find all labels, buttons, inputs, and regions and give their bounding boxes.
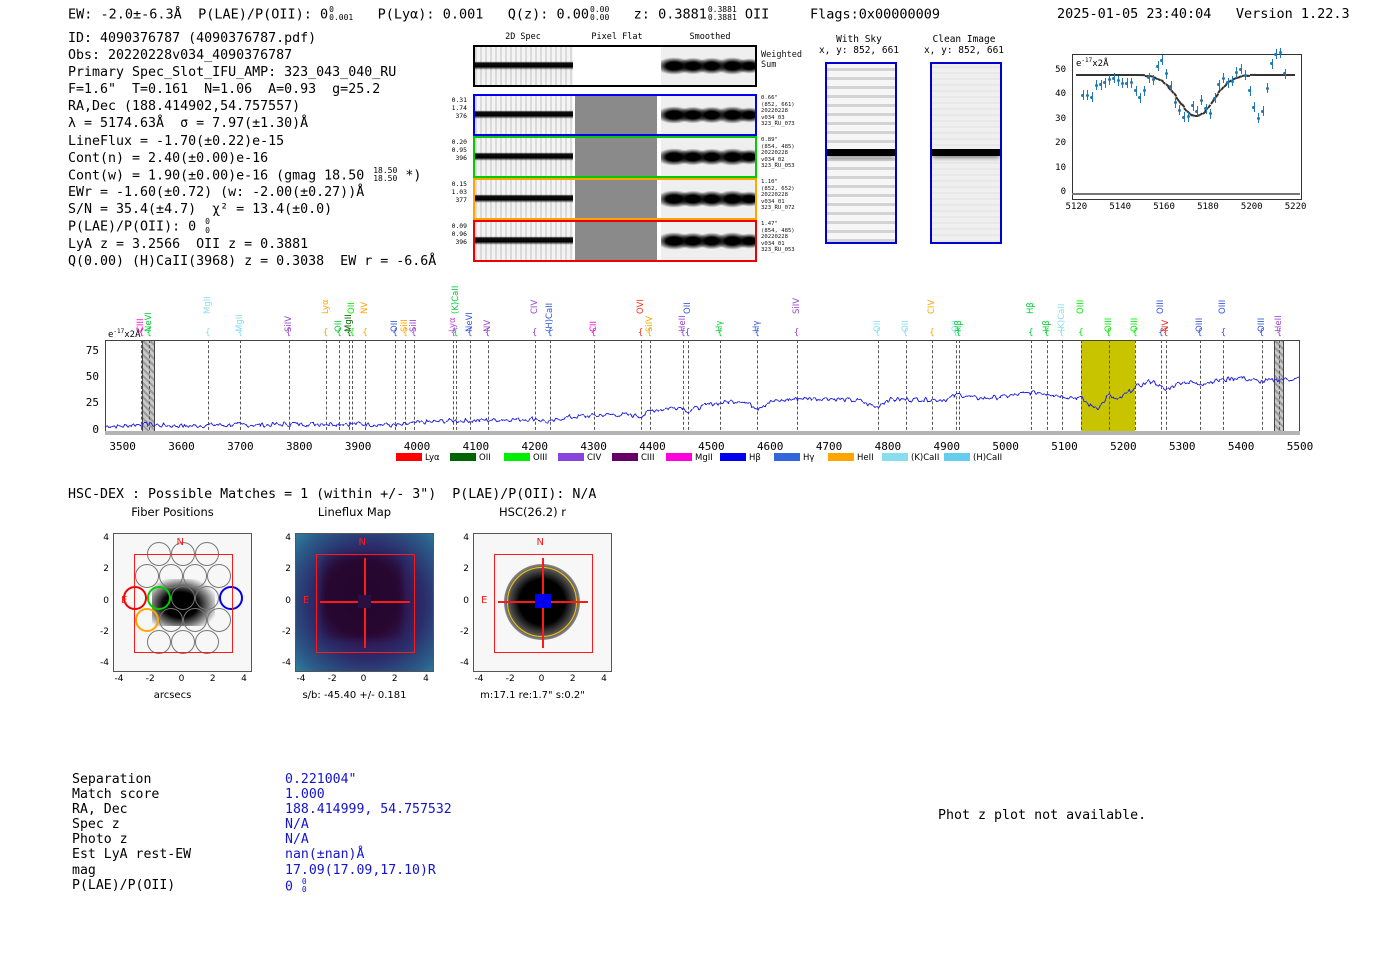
timestamp-version: 2025-01-05 23:40:04 Version 1.22.3 — [1057, 6, 1350, 22]
match-row-value: nan(±nan)Å — [285, 847, 364, 862]
fit-ytick: 50 — [1038, 65, 1066, 75]
spectrum-line-marker — [208, 340, 209, 435]
spectrum-line-marker — [720, 340, 721, 435]
spectrum-line-brace: { — [638, 328, 644, 338]
spec2d-row-left-meta: 0.09 0.96 396 — [437, 222, 467, 247]
spectrum-xtick: 5100 — [1039, 440, 1091, 453]
spec2d-weighted-sum-label: Weighted Sum — [761, 50, 802, 70]
info-line-8: Cont(w) = 1.90(±0.00)e-16 (gmag 18.50 18… — [68, 167, 436, 184]
spectrum-line-marker — [1279, 340, 1280, 435]
plae-sub: 0.001 — [329, 13, 353, 22]
spec2d-pixels — [661, 138, 755, 176]
fit-datapoint — [1178, 109, 1181, 112]
match-row-value: 0.221004" — [285, 772, 356, 787]
spec2d-pixels — [661, 180, 755, 218]
spectrum-line-label: CIV — [530, 262, 540, 314]
timestamp: 2025-01-05 23:40:04 — [1057, 6, 1211, 22]
spectrum-line-brace: { — [1220, 328, 1226, 338]
spectrum-line-label: Hβ — [1042, 280, 1052, 332]
legend-item-Hγ: Hγ — [774, 453, 814, 463]
image-panel-ytick: -2 — [87, 627, 109, 637]
spectrum-line-label: OII — [347, 262, 357, 314]
center-marker — [535, 594, 551, 608]
match-row-3: Spec zN/A — [72, 817, 191, 832]
spectrum-line-label: NeVI — [144, 280, 154, 332]
spectrum-ytick: 50 — [71, 370, 99, 383]
spectrum-line-label: (H)CaII — [545, 280, 555, 332]
fit-datapoint — [1200, 99, 1203, 102]
spec2d-pixels — [475, 138, 573, 176]
legend-label: Hβ — [749, 453, 761, 463]
image-panel-ytick: 0 — [269, 596, 291, 606]
fit-datapoint — [1090, 96, 1093, 99]
spectrum-line-label: OII — [683, 262, 693, 314]
image-panel-xtick: 2 — [201, 674, 225, 684]
photz-note: Phot z plot not available. — [938, 808, 1146, 823]
spectrum-xtick: 5200 — [1097, 440, 1149, 453]
spectrum-line-marker — [535, 340, 536, 435]
spectrum-xtick: 4400 — [626, 440, 678, 453]
spec2d-pixels — [661, 96, 755, 134]
fov-box — [134, 554, 233, 653]
spectrum-line-marker — [1031, 340, 1032, 435]
spectrum-line-label: NV — [483, 280, 493, 332]
legend-item-OIII: OIII — [504, 453, 547, 463]
legend-swatch — [774, 453, 800, 461]
legend-item-MgII: MgII — [666, 453, 713, 463]
plae-value: 0 — [320, 6, 328, 22]
spectrum-xtick: 3600 — [156, 440, 208, 453]
spec2d-fiber-row — [473, 220, 757, 262]
legend-swatch — [882, 453, 908, 461]
image-panel-ytick: 2 — [87, 564, 109, 574]
plya-value: 0.001 — [443, 6, 484, 22]
fit-datapoint — [1143, 89, 1146, 92]
spectrum-line-label: Hγ — [715, 280, 725, 332]
spectrum-line-label: (K)CaII — [451, 262, 461, 314]
fit-datapoint — [1156, 65, 1159, 68]
match-row-label: Spec z — [72, 817, 120, 832]
image-panel-xtick: 0 — [530, 674, 554, 684]
image-panel-title-1: Lineflux Map — [267, 505, 442, 519]
spec2d-pixels — [661, 47, 755, 85]
fit-xtick: 5220 — [1274, 202, 1318, 212]
fit-datapoint — [1222, 77, 1225, 80]
image-panel-xtick: -2 — [138, 674, 162, 684]
flags-text: Flags:0x00000009 — [810, 6, 940, 22]
spectrum-line-brace: { — [362, 328, 368, 338]
image-panel-xtick: 2 — [561, 674, 585, 684]
spectrum-baseline-band — [105, 431, 1300, 435]
image-panel-xtick: 4 — [592, 674, 616, 684]
spectrum-line-marker — [757, 340, 758, 435]
image-panel-xtick: 4 — [232, 674, 256, 684]
info-line-4: RA,Dec (188.414902,54.757557) — [68, 98, 436, 115]
image-panel-xtick: 4 — [414, 674, 438, 684]
fit-datapoint — [1213, 97, 1216, 100]
spectrum-line-label: OIII — [1076, 262, 1086, 314]
spectrum-line-marker — [878, 340, 879, 435]
legend-item-Hβ: Hβ — [720, 453, 761, 463]
spec2d-col-title-2: Smoothed — [650, 32, 770, 42]
fit-curve-seg — [1292, 74, 1295, 76]
match-row-label: Separation — [72, 772, 151, 787]
legend-item-(K)CaII: (K)CaII — [882, 453, 939, 463]
spectrum-line-label: OII — [901, 280, 911, 332]
spectrum-xtick: 4700 — [803, 440, 855, 453]
spectrum-line-brace: { — [453, 328, 459, 338]
spectrum-xtick: 4000 — [391, 440, 443, 453]
spectrum-line-brace: { — [323, 328, 329, 338]
fit-datapoint — [1121, 82, 1124, 85]
match-row-label: mag — [72, 863, 96, 878]
compass-north-1: N — [359, 537, 366, 548]
fit-datapoint — [1235, 71, 1238, 74]
spectrum-xtick: 5300 — [1156, 440, 1208, 453]
compass-east-2: E — [481, 595, 487, 606]
cutout-pixels — [932, 64, 1000, 242]
plya-label: P(Lyα): — [378, 6, 435, 22]
summary-header-line: EW: -2.0±-6.3Å P(LAE)/P(OII): 000.001 P(… — [68, 6, 940, 23]
spec2d-pixels — [475, 222, 573, 260]
spectrum-line-marker — [1062, 340, 1063, 435]
legend-label: OIII — [533, 453, 547, 463]
legend-swatch — [828, 453, 854, 461]
image-panel-ytick: 0 — [87, 596, 109, 606]
spectrum-line-marker — [1223, 340, 1224, 435]
spectrum-line-brace: { — [685, 328, 691, 338]
spectrum-line-label: OII — [334, 280, 344, 332]
ew-value: -2.0±-6.3Å — [101, 6, 182, 22]
match-detail-table: Separation0.221004"Match score1.000RA, D… — [72, 772, 191, 893]
info-line-0: ID: 4090376787 (4090376787.pdf) — [68, 30, 436, 47]
legend-swatch — [558, 453, 584, 461]
image-panel-caption-2: m:17.1 re:1.7" s:0.2" — [437, 690, 628, 701]
fit-xtick: 5200 — [1230, 202, 1274, 212]
spectrum-xtick: 4100 — [450, 440, 502, 453]
spectrum-line-label: NV — [1161, 280, 1171, 332]
image-panel-ytick: -4 — [269, 658, 291, 668]
spec2d-image-cell — [475, 180, 573, 218]
spectrum-line-label: OIII — [1104, 280, 1114, 332]
fit-datapoint — [1244, 74, 1247, 77]
spectrum-line-marker — [141, 340, 142, 435]
match-row-7: P(LAE)/P(OII)0 00 — [72, 878, 191, 893]
spec2d-image-cell — [661, 138, 755, 176]
spec2d-row-right-meta: 0.66" (852, 661) 20220228 v034_03 323_RU… — [761, 95, 795, 128]
spec2d-row-right-meta: 0.89" (854, 485) 20220228 v034_02 323_RU… — [761, 137, 795, 170]
spectrum-line-marker — [959, 340, 960, 435]
image-panel-title-0: Fiber Positions — [85, 505, 260, 519]
spectrum-ytick: 75 — [71, 344, 99, 357]
match-row-label: Est LyA rest-EW — [72, 847, 191, 862]
fit-xtick: 5120 — [1054, 202, 1098, 212]
cutout-image-1 — [930, 62, 1002, 244]
spec2d-row-left-meta: 0.20 0.95 396 — [437, 138, 467, 163]
spectrum-xtick: 3500 — [97, 440, 149, 453]
spectrum-line-label: CII — [589, 280, 599, 332]
match-row-6: mag17.09(17.09,17.10)R — [72, 863, 191, 878]
spec2d-image-cell — [575, 96, 657, 134]
cutout-image-0 — [825, 62, 897, 244]
spectrum-line-label: Hβ — [1026, 262, 1036, 314]
spectrum-line-label: OII — [873, 280, 883, 332]
spectrum-line-marker — [405, 340, 406, 435]
spectrum-line-marker — [797, 340, 798, 435]
spec2d-image-cell — [661, 222, 755, 260]
spectrum-xtick: 3900 — [332, 440, 384, 453]
spectrum-ytick: 0 — [71, 423, 99, 436]
info-line-7: Cont(n) = 2.40(±0.00)e-16 — [68, 150, 436, 167]
legend-item-CIV: CIV — [558, 453, 601, 463]
spectrum-xtick: 4600 — [744, 440, 796, 453]
spectrum-line-marker — [956, 340, 957, 435]
spec2d-image-cell — [661, 180, 755, 218]
legend-item-Lyα: Lyα — [396, 453, 440, 463]
spectrum-line-label: MgII — [235, 280, 245, 332]
spec2d-row-left-meta: 0.15 1.03 377 — [437, 180, 467, 205]
spec2d-fiber-row — [473, 94, 757, 136]
image-panel-xtick: -2 — [498, 674, 522, 684]
spectrum-line-marker — [1262, 340, 1263, 435]
spectrum-line-marker — [1081, 340, 1082, 435]
spectrum-line-label: SiIV — [792, 262, 802, 314]
spec2d-image-cell — [575, 180, 657, 218]
legend-label: Lyα — [425, 453, 440, 463]
spectrum-xtick: 4300 — [568, 440, 620, 453]
info-line-9: EWr = -1.60(±0.72) (w: -2.00(±0.27))Å — [68, 184, 436, 201]
image-panel-axes-1 — [295, 533, 434, 672]
spectrum-line-label: Lyα — [321, 262, 331, 314]
match-row-value: 0 00 — [285, 878, 307, 895]
spectrum-line-marker — [1047, 340, 1048, 435]
info-line-11: P(LAE)/P(OII): 0 00 — [68, 218, 436, 235]
cutout-title-0: With Skyx, y: 852, 661 — [807, 34, 911, 56]
image-panel-xtick: 0 — [352, 674, 376, 684]
spectrum-line-label: SiIV — [284, 280, 294, 332]
spectrum-legend: LyαOIIOIIICIVCIIIMgIIHβHγHeII(K)CaII(H)C… — [396, 453, 1006, 465]
spectrum-line-brace: { — [1028, 328, 1034, 338]
spec2d-image-cell — [475, 96, 573, 134]
fit-datapoint — [1174, 101, 1177, 104]
spec2d-image-cell — [661, 96, 755, 134]
spectrum-line-label: Hγ — [752, 280, 762, 332]
fit-plot-annotation: e-17x2Å — [1076, 57, 1109, 69]
image-panel-ytick: -2 — [447, 627, 469, 637]
spectrum-line-label: (K)CaII — [1057, 280, 1067, 332]
spectrum-line-label: Hβ — [954, 280, 964, 332]
spectrum-line-marker — [1200, 340, 1201, 435]
legend-label: Hγ — [803, 453, 814, 463]
spec2d-weighted-sum-panel — [473, 45, 757, 87]
qz-sub: 0.00 — [590, 13, 609, 22]
spectrum-xtick: 4500 — [685, 440, 737, 453]
ew-label: EW: — [68, 6, 92, 22]
spec2d-montage: 2D SpecPixel FlatSmoothedWeighted Sum0.3… — [455, 32, 805, 260]
image-panel-xtick: 2 — [383, 674, 407, 684]
fit-zero-line — [1072, 193, 1300, 195]
spec2d-pixels — [475, 180, 573, 218]
z-sub: 0.3881 — [708, 13, 737, 22]
image-panel-ytick: -4 — [87, 658, 109, 668]
spectrum-line-marker — [289, 340, 290, 435]
info-line-2: Primary Spec_Slot_IFU_AMP: 323_043_040_R… — [68, 64, 436, 81]
legend-swatch — [666, 453, 692, 461]
image-panels: Fiber PositionsNE420-2-4-4-2024arcsecsLi… — [55, 505, 635, 715]
spectrum-xtick: 5500 — [1274, 440, 1326, 453]
z-label: z: — [634, 6, 650, 22]
match-row-2: RA, Dec188.414999, 54.757532 — [72, 802, 191, 817]
spectrum-xtick: 4200 — [509, 440, 561, 453]
spec2d-image-cell — [475, 138, 573, 176]
fit-datapoint — [1231, 80, 1234, 83]
legend-item-OII: OII — [450, 453, 491, 463]
qz-label: Q(z): — [508, 6, 549, 22]
info-line-5: λ = 5174.63Å σ = 7.97(±1.30)Å — [68, 115, 436, 132]
match-row-label: Match score — [72, 787, 159, 802]
fit-datapoint — [1108, 78, 1111, 81]
image-panel-ytick: 4 — [87, 533, 109, 543]
spectrum-line-brace: { — [349, 328, 355, 338]
spectrum-line-marker — [365, 340, 366, 435]
match-row-value: N/A — [285, 832, 309, 847]
compass-north-0: N — [177, 537, 184, 548]
match-row-1: Match score1.000 — [72, 787, 191, 802]
z-value: 0.3881 — [658, 6, 707, 22]
legend-swatch — [944, 453, 970, 461]
plae-label: P(LAE)/P(OII): — [198, 6, 312, 22]
image-panel-ytick: -4 — [447, 658, 469, 668]
info-line-12: LyA z = 3.2566 OII z = 0.3881 — [68, 236, 436, 253]
spectrum-line-brace: { — [532, 328, 538, 338]
legend-label: OII — [479, 453, 491, 463]
fit-datapoint — [1152, 78, 1155, 81]
spectrum-xtick: 5400 — [1215, 440, 1267, 453]
fit-datapoint — [1095, 84, 1098, 87]
spectrum-xtick: 5000 — [980, 440, 1032, 453]
spec2d-row-left-meta: 0.31 1.74 376 — [437, 96, 467, 121]
spectrum-ytick: 25 — [71, 396, 99, 409]
spectrum-line-label: OIII — [1218, 262, 1228, 314]
image-panel-xtick: -4 — [107, 674, 131, 684]
spectrum-line-marker — [339, 340, 340, 435]
legend-swatch — [450, 453, 476, 461]
cutout-trace — [932, 149, 1000, 156]
cutout-pixels — [827, 64, 895, 242]
image-panel-ytick: 2 — [447, 564, 469, 574]
spectrum-line-label: SiII — [409, 280, 419, 332]
spec2d-pixels — [475, 47, 573, 85]
fit-datapoint — [1169, 85, 1172, 88]
image-panel-ytick: 0 — [447, 596, 469, 606]
image-panel-ytick: 4 — [269, 533, 291, 543]
image-panel-xtick: 0 — [170, 674, 194, 684]
spectrum-xtick: 4900 — [921, 440, 973, 453]
spec2d-image-cell — [575, 222, 657, 260]
spectrum-xtick: 3800 — [273, 440, 325, 453]
image-panel-xtick: -4 — [289, 674, 313, 684]
fit-datapoint — [1099, 83, 1102, 86]
image-panel-ytick: -2 — [269, 627, 291, 637]
spec2d-pixels — [475, 96, 573, 134]
source-info-block: ID: 4090376787 (4090376787.pdf)Obs: 2022… — [68, 30, 436, 270]
fit-xtick: 5140 — [1098, 202, 1142, 212]
legend-label: (H)CaII — [973, 453, 1002, 463]
spectrum-line-brace: { — [794, 328, 800, 338]
info-line-6: LineFlux = -1.70(±0.22)e-15 — [68, 133, 436, 150]
qz-value: 0.00 — [557, 6, 590, 22]
spectrum-line-brace: { — [929, 328, 935, 338]
spec2d-row-right-meta: 1.10" (852, 652) 20220228 v034_01 323_RU… — [761, 179, 795, 212]
fit-ytick: 40 — [1038, 89, 1066, 99]
fit-datapoint — [1266, 87, 1269, 90]
spectrum-line-label: HeII — [1274, 280, 1284, 332]
spectrum-xtick: 4800 — [862, 440, 914, 453]
image-panel-xtick: -2 — [320, 674, 344, 684]
spectrum-line-label: OIII — [1195, 280, 1205, 332]
spectrum-line-label: OIII — [1257, 280, 1267, 332]
legend-label: CIV — [587, 453, 601, 463]
fit-xtick: 5180 — [1186, 202, 1230, 212]
spectrum-line-marker — [352, 340, 353, 435]
image-panel-ytick: 4 — [447, 533, 469, 543]
spec2d-fiber-row — [473, 178, 757, 220]
legend-label: HeII — [857, 453, 874, 463]
image-panel-ytick: 2 — [269, 564, 291, 574]
fit-xtick: 5160 — [1142, 202, 1186, 212]
match-row-value: 188.414999, 54.757532 — [285, 802, 452, 817]
spectrum-line-marker — [683, 340, 684, 435]
spectrum-line-label: OII — [390, 280, 400, 332]
match-row-4: Photo zN/A — [72, 832, 191, 847]
spec2d-image-cell — [575, 138, 657, 176]
cutout-title-1: Clean Imagex, y: 852, 661 — [912, 34, 1016, 56]
info-line-13: Q(0.00) (H)CaII(3968) z = 0.3038 EW r = … — [68, 253, 436, 270]
spectrum-line-brace: { — [1078, 328, 1084, 338]
compass-north-2: N — [537, 537, 544, 548]
image-panel-axes-2 — [473, 533, 612, 672]
full-spectrum-plot: 0255075e-17x2Å{CIII{NeVI{MgII{MgII{SiIV{… — [105, 340, 1300, 435]
spec2d-row-right-meta: 1.47" (854, 485) 20220228 v034_01 323_RU… — [761, 221, 795, 254]
spectrum-line-marker — [326, 340, 327, 435]
hsc-headline: HSC-DEX : Possible Matches = 1 (within +… — [68, 487, 596, 502]
fit-ytick: 30 — [1038, 114, 1066, 124]
spec2d-image-cell — [661, 47, 755, 85]
spectrum-line-brace: { — [205, 328, 211, 338]
info-line-10: S/N = 35.4(±4.7) χ² = 13.4(±0.0) — [68, 201, 436, 218]
compass-east-1: E — [303, 595, 309, 606]
spectrum-line-label: OIII — [1130, 280, 1140, 332]
image-panel-caption-1: s/b: -45.40 +/- 0.181 — [259, 690, 450, 701]
legend-item-HeII: HeII — [828, 453, 874, 463]
spectrum-line-marker — [650, 340, 651, 435]
match-row-label: P(LAE)/P(OII) — [72, 878, 175, 893]
spectrum-line-marker — [932, 340, 933, 435]
match-row-label: RA, Dec — [72, 802, 128, 817]
spec2d-image-cell — [475, 222, 573, 260]
spec2d-fiber-row — [473, 136, 757, 178]
legend-swatch — [504, 453, 530, 461]
legend-swatch — [612, 453, 638, 461]
legend-swatch — [720, 453, 746, 461]
spec2d-pixels — [661, 222, 755, 260]
cutout-panels: With Skyx, y: 852, 661Clean Imagex, y: 8… — [815, 32, 1030, 260]
spectrum-line-label: SiIV — [645, 280, 655, 332]
spectrum-line-marker — [1109, 340, 1110, 435]
fit-ytick: 10 — [1038, 163, 1066, 173]
line-fit-plot: e-17x2Å010203040505120514051605180520052… — [1038, 48, 1306, 220]
fit-datapoint — [1165, 72, 1168, 75]
